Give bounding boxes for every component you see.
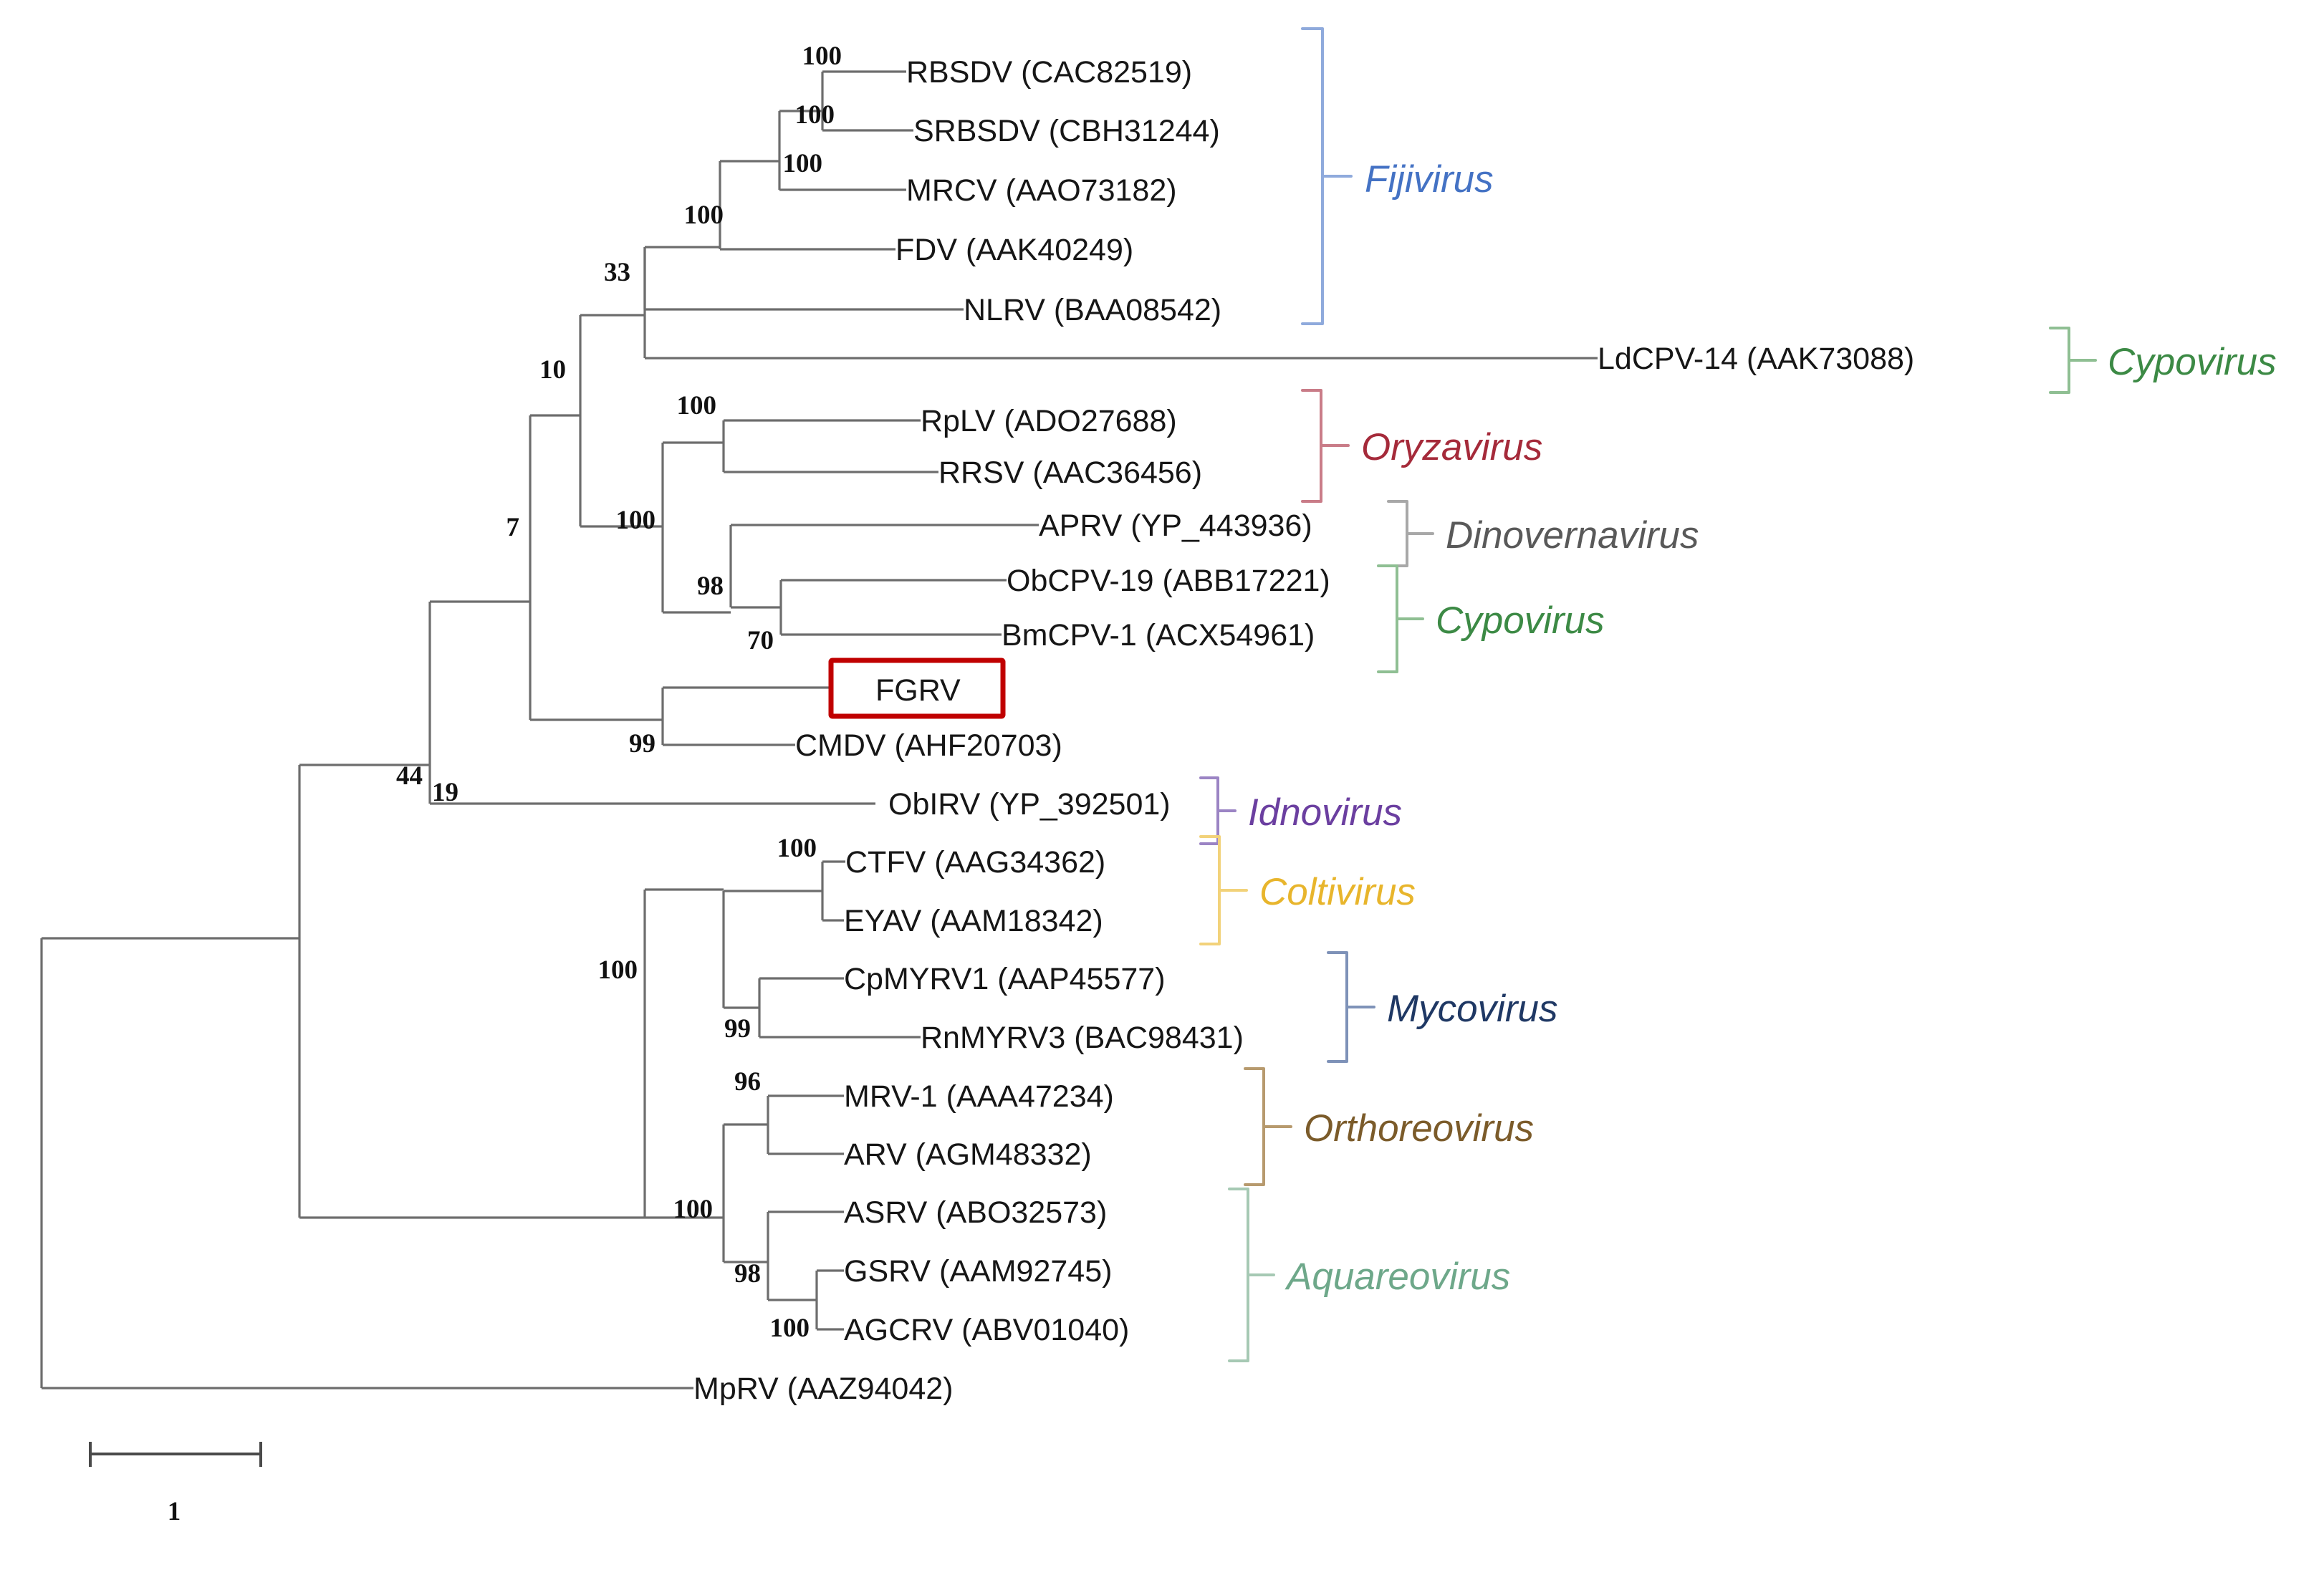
tip-label-cpmyrv1: CpMYRV1 (AAP45577) [844,962,1166,996]
clade-label-coltivirus: Coltivirus [1259,871,1416,913]
tip-label-gsrv: GSRV (AAM92745) [844,1254,1112,1289]
tip-label-mrcv: MRCV (AAO73182) [906,173,1177,208]
bootstrap-value: 7 [506,513,520,542]
bootstrap-value: 100 [684,201,724,230]
bootstrap-value: 100 [802,42,842,71]
tip-label-mrv-1: MRV-1 (AAA47234) [844,1079,1114,1114]
bootstrap-value: 70 [747,626,774,655]
tip-label-ctfv: CTFV (AAG34362) [845,845,1105,880]
bootstrap-value: 100 [598,955,638,985]
bootstrap-value: 33 [604,258,630,287]
bootstrap-value: 100 [777,834,817,863]
bootstrap-value: 100 [616,506,656,535]
clade-label-orthoreovirus: Orthoreovirus [1304,1107,1534,1150]
tip-label-rplv: RpLV (ADO27688) [921,404,1177,438]
tip-label-srbsdv: SRBSDV (CBH31244) [913,114,1220,148]
tree-canvas: RBSDV (CAC82519) SRBSDV (CBH31244) MRCV … [0,0,2324,1570]
tip-label-nlrv: NLRV (BAA08542) [964,293,1221,327]
phylogenetic-tree-figure: RBSDV (CAC82519) SRBSDV (CBH31244) MRCV … [0,0,2324,1570]
bootstrap-value: 100 [795,100,835,130]
tip-label-obcpv-19: ObCPV-19 (ABB17221) [1007,564,1330,598]
clade-label-cypovirus-cpv: Cypovirus [1436,599,1605,642]
bootstrap-value: 100 [770,1314,810,1343]
scale-bar-label: 1 [168,1497,181,1526]
bootstrap-values: 100 100 100 100 33 10 100 100 7 98 70 19… [396,42,842,1343]
clade-annotations: Fijivirus Cypovirus Oryzavirus Dinoverna… [1201,29,2277,1361]
tip-label-cmdv: CMDV (AHF20703) [795,728,1062,763]
bootstrap-value: 99 [724,1014,751,1044]
clade-label-mycovirus: Mycovirus [1387,988,1558,1030]
clade-label-aquareovirus: Aquareovirus [1285,1256,1510,1298]
bootstrap-value: 100 [673,1195,714,1224]
scale-bar-group: 1 [90,1442,261,1526]
clade-label-oryzavirus: Oryzavirus [1361,426,1542,468]
tip-label-bmcpv-1: BmCPV-1 (ACX54961) [1002,618,1315,652]
clade-label-idnovirus: Idnovirus [1248,791,1402,834]
clade-label-cypovirus-ld: Cypovirus [2108,341,2277,383]
tip-label-rbsdv: RBSDV (CAC82519) [906,55,1192,90]
tip-label-fdv: FDV (AAK40249) [895,233,1133,267]
bootstrap-value: 98 [734,1259,761,1289]
tip-label-obirv: ObIRV (YP_392501) [888,787,1171,822]
tip-label-eyav: EYAV (AAM18342) [844,904,1103,938]
bootstrap-value: 19 [432,778,458,807]
tip-labels: RBSDV (CAC82519) SRBSDV (CBH31244) MRCV … [693,55,1914,1406]
bootstrap-value: 99 [629,729,656,758]
tip-label-arv: ARV (AGM48332) [844,1137,1092,1172]
bootstrap-value: 98 [697,572,724,601]
tip-label-rrsv: RRSV (AAC36456) [938,456,1202,490]
bootstrap-value: 100 [677,391,717,420]
tip-label-ldcpv-14: LdCPV-14 (AAK73088) [1598,342,1914,376]
bootstrap-value: 10 [539,355,566,385]
bootstrap-value: 44 [396,761,423,791]
tip-label-rnmyrv3: RnMYRV3 (BAC98431) [921,1021,1244,1055]
tip-label-asrv: ASRV (ABO32573) [844,1195,1107,1230]
clade-label-dinovernavirus: Dinovernavirus [1446,514,1699,557]
tip-label-fgrv: FGRV [875,673,961,708]
bootstrap-value: 100 [783,149,823,178]
tip-label-mprv: MpRV (AAZ94042) [693,1372,953,1406]
tip-label-aprv: APRV (YP_443936) [1039,509,1312,543]
tip-label-agcrv: AGCRV (ABV01040) [844,1313,1129,1347]
clade-label-fijivirus: Fijivirus [1365,158,1494,201]
bootstrap-value: 96 [734,1067,761,1097]
